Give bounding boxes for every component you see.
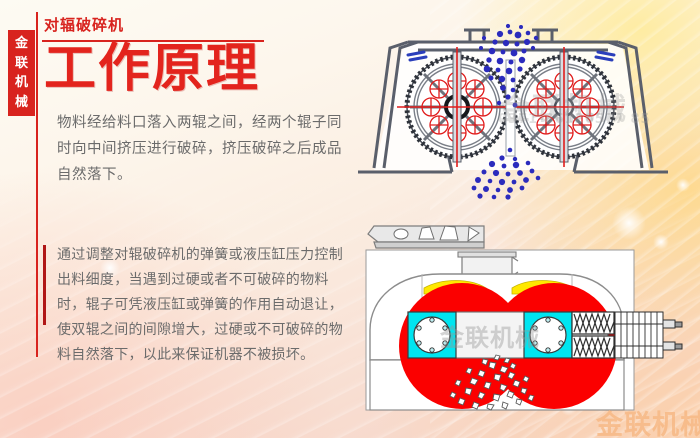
brand-char-3: 机 [15,76,28,89]
bearing-left-detail [414,317,450,353]
crusher-side-view-diagram [362,212,694,438]
paragraph-accent-bar [43,245,46,325]
paragraph-working-principle: 物料经给料口落入两辊之间，经两个辊子同时向中间挤压进行破碎，挤压破碎之后成品自然… [57,110,347,188]
crusher-cross-section-diagram [352,2,698,214]
brand-char-4: 械 [15,96,28,109]
page-title: 工作原理 [44,43,260,95]
adjust-frame [615,312,682,358]
poster-root: 金 联 机 械 对辐破碎机 工作原理 物料经给料口落入两辊之间，经两个辊子同时向… [0,0,700,438]
feeder-chute [368,226,484,248]
vertical-accent-line [36,12,38,357]
paragraph-adjustment: 通过调整对辊破碎机的弹簧或液压缸压力控制出料细度，当遇到过硬或者不可破碎的物料时… [57,243,357,368]
brand-logo-badge: 金 联 机 械 [8,30,35,116]
bearing-right-detail [530,317,566,353]
brand-char-2: 联 [15,57,28,70]
section-subtitle: 对辐破碎机 [44,14,124,35]
brand-char-1: 金 [15,37,28,50]
